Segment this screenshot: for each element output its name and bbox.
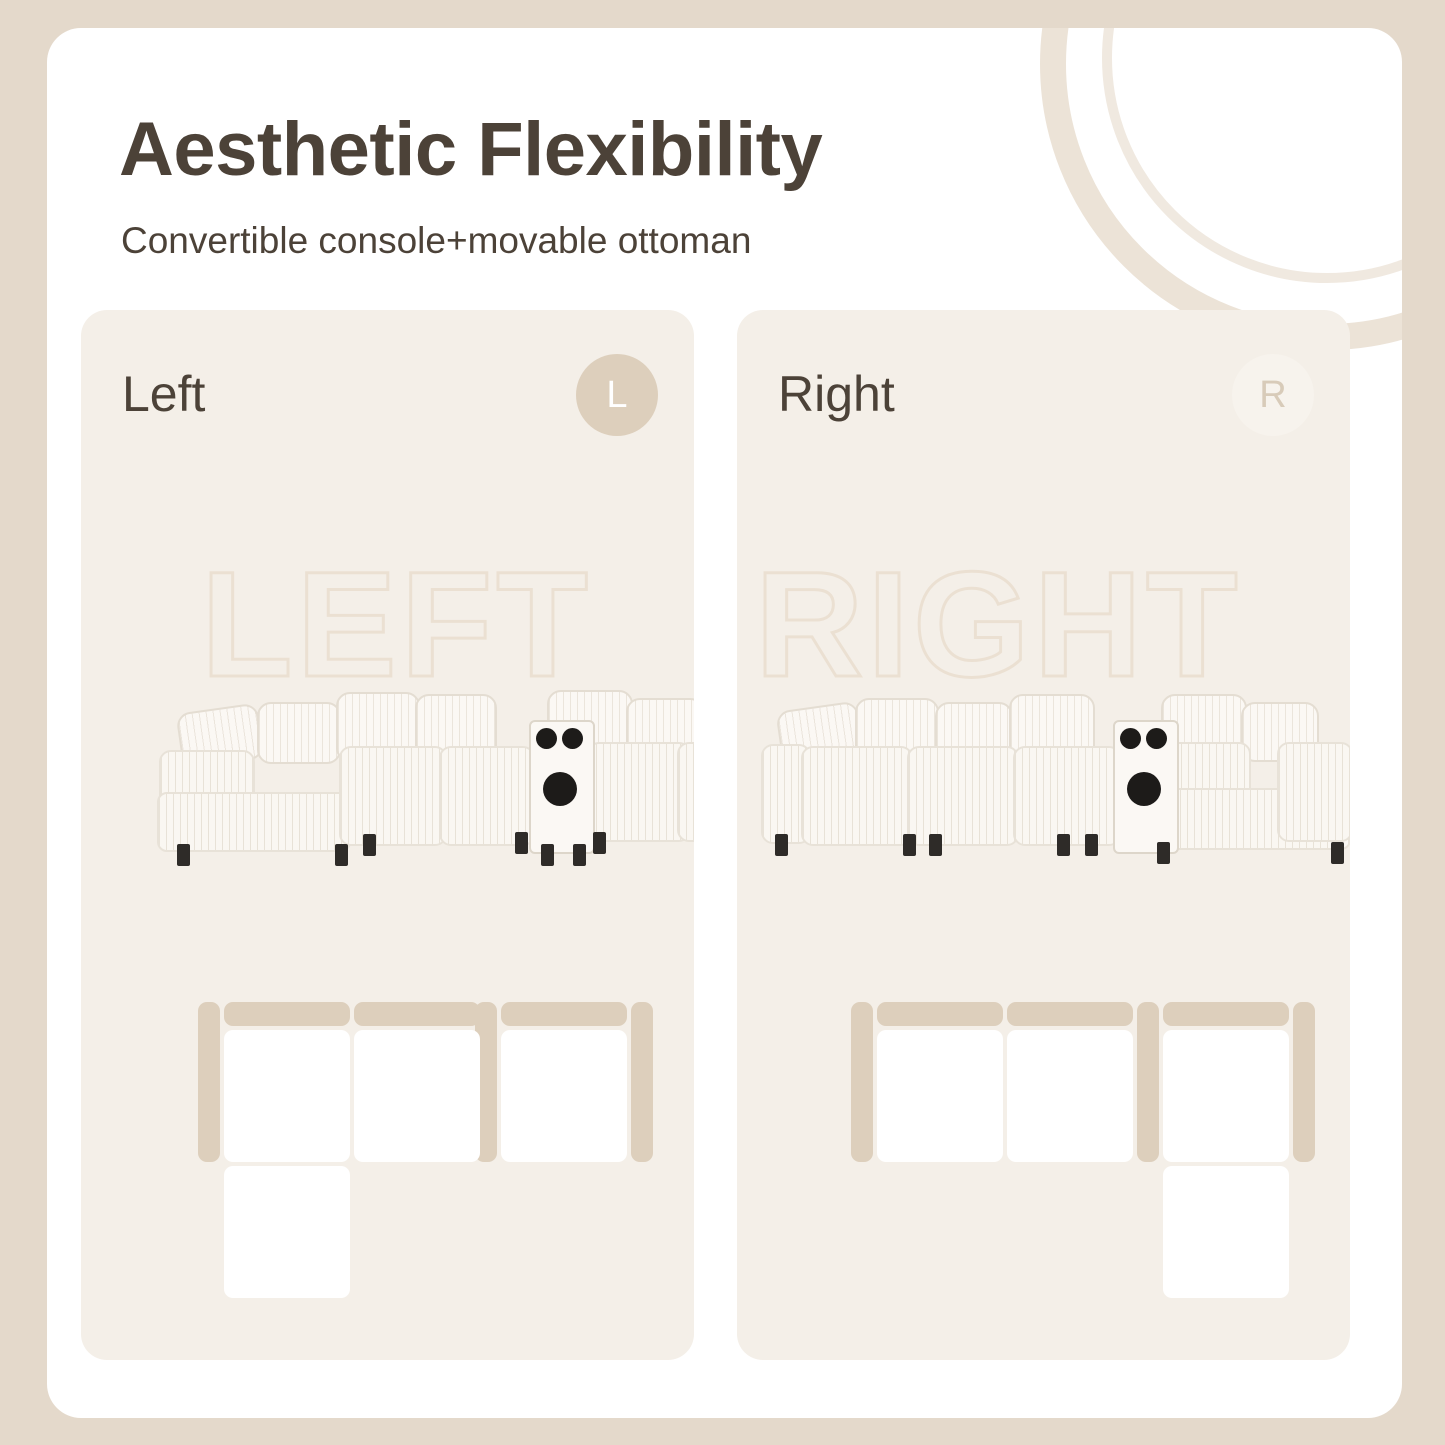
- right-facing-sectional-sofa: [737, 680, 1350, 910]
- diagram-back: [1163, 1002, 1289, 1026]
- badge-right: R: [1232, 354, 1314, 436]
- sofa-seat: [907, 746, 1019, 846]
- diagram-ottoman: [224, 1166, 350, 1298]
- speaker-icon: [536, 728, 557, 749]
- sofa-seat: [801, 746, 913, 846]
- diagram-arm: [1293, 1002, 1315, 1162]
- content-card: Aesthetic Flexibility Convertible consol…: [47, 28, 1402, 1418]
- diagram-back: [501, 1002, 627, 1026]
- sofa-leg: [593, 832, 606, 854]
- right-facing-layout-diagram: [737, 1000, 1350, 1330]
- diagram-ottoman: [1163, 1166, 1289, 1298]
- sofa-leg: [515, 832, 528, 854]
- subwoofer-icon: [1127, 772, 1161, 806]
- sofa-leg: [335, 844, 348, 866]
- sofa-leg: [1331, 842, 1344, 864]
- sofa-leg: [775, 834, 788, 856]
- speaker-icon: [1120, 728, 1141, 749]
- speaker-icon: [562, 728, 583, 749]
- badge-left: L: [576, 354, 658, 436]
- sofa-leg: [573, 844, 586, 866]
- panel-title-right: Right: [778, 365, 895, 423]
- sofa-arm-right: [1277, 742, 1350, 842]
- panel-left[interactable]: Left L LEFT: [81, 310, 694, 1360]
- diagram-seat: [877, 1030, 1003, 1162]
- panel-title-left: Left: [122, 365, 205, 423]
- sofa-seat: [339, 746, 447, 846]
- sofa-seat: [439, 746, 535, 846]
- sofa-seat: [587, 742, 691, 842]
- diagram-arm: [851, 1002, 873, 1162]
- diagram-seat: [224, 1030, 350, 1162]
- diagram-seat: [501, 1030, 627, 1162]
- left-facing-sectional-sofa: [81, 680, 694, 910]
- diagram-back: [224, 1002, 350, 1026]
- diagram-back: [354, 1002, 480, 1026]
- diagram-back: [1007, 1002, 1133, 1026]
- diagram-arm: [631, 1002, 653, 1162]
- sofa-leg: [363, 834, 376, 856]
- sofa-leg: [903, 834, 916, 856]
- sofa-seat: [1013, 746, 1121, 846]
- sofa-leg: [177, 844, 190, 866]
- sofa-leg: [1057, 834, 1070, 856]
- promo-page: Aesthetic Flexibility Convertible consol…: [0, 0, 1445, 1445]
- speaker-icon: [1146, 728, 1167, 749]
- diagram-arm: [198, 1002, 220, 1162]
- chaise-ottoman: [157, 792, 351, 852]
- sofa-leg: [929, 834, 942, 856]
- left-facing-layout-diagram: [81, 1000, 694, 1330]
- page-subtitle: Convertible console+movable ottoman: [121, 220, 751, 262]
- diagram-seat: [354, 1030, 480, 1162]
- sofa-arm-right: [677, 742, 694, 842]
- sofa-leg: [1157, 842, 1170, 864]
- page-title: Aesthetic Flexibility: [119, 106, 822, 193]
- diagram-back: [877, 1002, 1003, 1026]
- diagram-seat: [1163, 1030, 1289, 1162]
- diagram-console: [1137, 1002, 1159, 1162]
- panel-right[interactable]: Right R RIGHT: [737, 310, 1350, 1360]
- sofa-leg: [541, 844, 554, 866]
- sofa-leg: [1085, 834, 1098, 856]
- diagram-seat: [1007, 1030, 1133, 1162]
- subwoofer-icon: [543, 772, 577, 806]
- pillow: [257, 702, 341, 764]
